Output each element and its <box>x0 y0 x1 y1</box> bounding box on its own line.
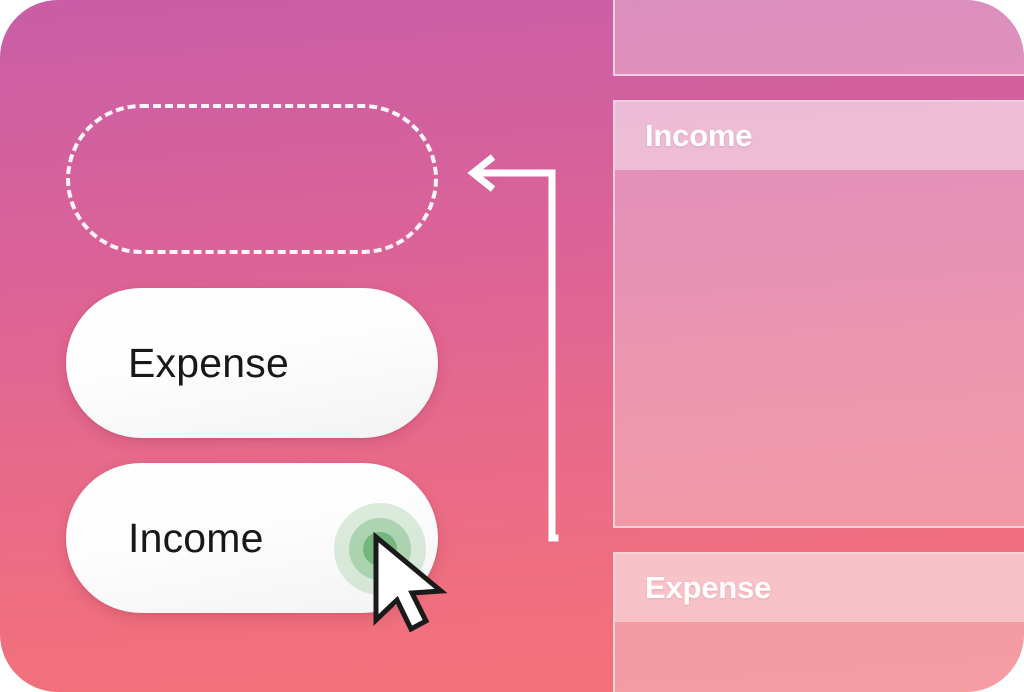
pill-expense-label: Expense <box>128 340 289 387</box>
pill-income-label: Income <box>128 515 264 562</box>
card-expense-header: Expense <box>615 554 1024 622</box>
card-income-title: Income <box>645 118 752 154</box>
category-card-list: Income Expense <box>613 0 1024 692</box>
screenshot-root: Expense Income <box>0 0 1024 692</box>
card-income[interactable]: Income <box>613 100 1024 528</box>
click-ripple-icon <box>334 503 426 595</box>
pill-expense[interactable]: Expense <box>66 288 438 438</box>
card-income-header: Income <box>615 102 1024 170</box>
pill-income[interactable]: Income <box>66 463 438 613</box>
link-arrow-icon <box>440 150 590 570</box>
card-expense[interactable]: Expense <box>613 552 1024 692</box>
card-expense-title: Expense <box>645 570 771 606</box>
card-top-clipped[interactable] <box>613 0 1024 76</box>
gradient-panel: Expense Income <box>0 0 1024 692</box>
pill-placeholder-dropzone[interactable] <box>66 104 438 254</box>
